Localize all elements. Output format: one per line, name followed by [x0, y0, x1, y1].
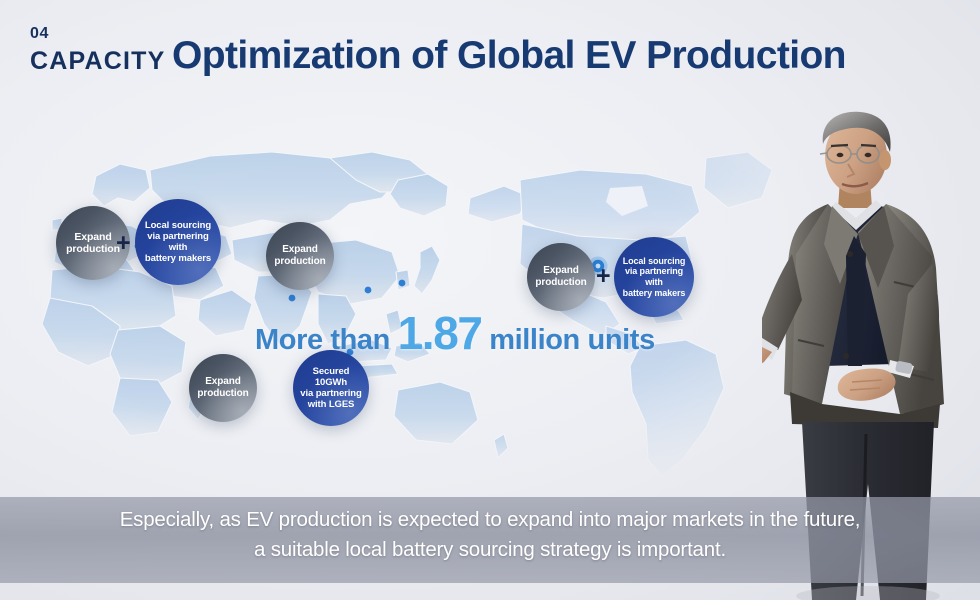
map-marker-korea: [399, 280, 406, 287]
bubble-europe-local-sourcing[interactable]: Local sourcingvia partnering withbattery…: [135, 199, 221, 285]
bubble-label: Local sourcingvia partnering withbattery…: [139, 220, 217, 265]
plus-connector-europe: +: [116, 231, 131, 256]
section-number: 04: [30, 26, 166, 42]
bubble-label: Secured10GWhvia partneringwith LGES: [300, 366, 361, 411]
bubble-label: Expandproduction: [274, 244, 325, 268]
map-marker-india: [289, 295, 296, 302]
section-kicker: 04 CAPACITY: [30, 26, 166, 74]
page-title: Optimization of Global EV Production: [172, 34, 846, 78]
caption-line-2: a suitable local battery sourcing strate…: [0, 535, 980, 565]
slide-header: 04 CAPACITY Optimization of Global EV Pr…: [0, 0, 980, 108]
bubble-india-expand[interactable]: Expandproduction: [189, 354, 257, 422]
headline-suffix: million units: [482, 324, 655, 356]
headline-total-units: More than 1.87 million units: [255, 310, 655, 356]
bubble-americas-expand[interactable]: Expandproduction: [527, 243, 595, 311]
bubble-label: Local sourcingvia partnering withbattery…: [618, 256, 690, 298]
bubble-label: Expandproduction: [197, 376, 248, 400]
bubble-asia-expand[interactable]: Expandproduction: [266, 222, 334, 290]
caption-text: Especially, as EV production is expected…: [0, 505, 980, 564]
slide-canvas: 04 CAPACITY Optimization of Global EV Pr…: [0, 0, 980, 600]
section-label: CAPACITY: [30, 49, 166, 74]
bubble-americas-local-sourcing[interactable]: Local sourcingvia partnering withbattery…: [614, 237, 694, 317]
bubble-label: Expandproduction: [535, 265, 586, 289]
bubble-label: Expandproduction: [66, 231, 120, 256]
caption-line-1: Especially, as EV production is expected…: [0, 505, 980, 535]
plus-connector-americas: +: [596, 264, 611, 289]
map-marker-china: [365, 287, 372, 294]
headline-figure: 1.87: [398, 307, 482, 359]
bubble-southeast-secured[interactable]: Secured10GWhvia partneringwith LGES: [293, 350, 369, 426]
